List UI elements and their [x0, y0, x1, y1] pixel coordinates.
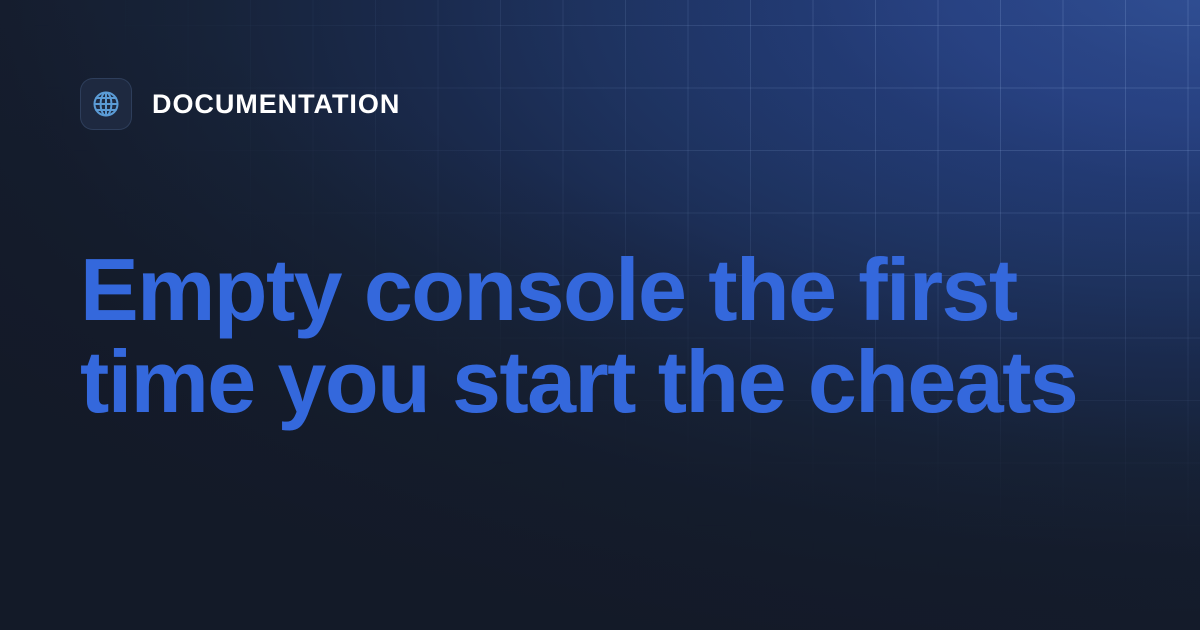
page-title: Empty console the first time you start t… [80, 244, 1120, 429]
og-card: DOCUMENTATION Empty console the first ti… [0, 0, 1200, 630]
eyebrow-label: DOCUMENTATION [152, 91, 400, 118]
globe-icon [80, 78, 132, 130]
card-content: DOCUMENTATION Empty console the first ti… [0, 0, 1200, 630]
eyebrow: DOCUMENTATION [80, 76, 1120, 132]
